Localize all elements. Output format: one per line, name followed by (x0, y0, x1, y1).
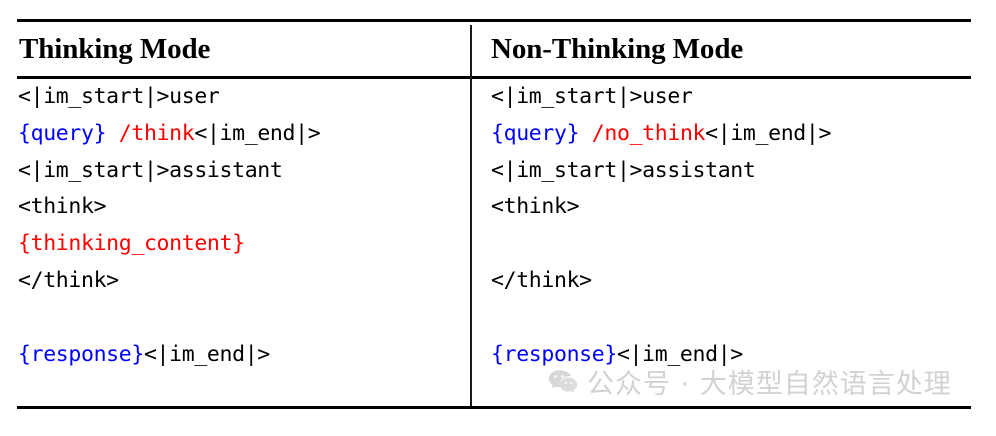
code-token: {query} (491, 121, 579, 146)
column-header-non-thinking-mode: Non-Thinking Mode (491, 22, 969, 76)
code-block-thinking-mode: <|im_start|>user{query} /think<|im_end|>… (18, 79, 470, 373)
code-token: <|im_end|> (617, 342, 743, 367)
code-token: <|im_start|>assistant (491, 158, 755, 183)
code-token: {thinking_content} (18, 231, 245, 256)
code-token: <think> (491, 194, 579, 219)
code-token: <|im_end|> (705, 121, 831, 146)
code-token: <|im_end|> (194, 121, 320, 146)
code-line: {thinking_content} (18, 226, 470, 263)
code-line: </think> (18, 263, 470, 300)
code-token: <|im_end|> (144, 342, 270, 367)
code-token: <think> (18, 194, 106, 219)
code-token: <|im_start|>user (491, 84, 693, 109)
code-line: <think> (491, 189, 971, 226)
code-token: {query} (18, 121, 106, 146)
code-line: <|im_start|>assistant (18, 153, 470, 190)
column-header-thinking-mode: Thinking Mode (19, 22, 467, 76)
code-line: <|im_start|>user (491, 79, 971, 116)
code-token: </think> (491, 268, 592, 293)
code-token (106, 121, 119, 146)
code-line: </think> (491, 263, 971, 300)
code-token: {response} (491, 342, 617, 367)
code-token: <|im_start|>assistant (18, 158, 282, 183)
code-line: <|im_start|>user (18, 79, 470, 116)
code-line (491, 226, 971, 263)
code-line (491, 300, 971, 337)
code-line: <|im_start|>assistant (491, 153, 971, 190)
code-token: /no_think (592, 121, 705, 146)
code-block-non-thinking-mode: <|im_start|>user{query} /no_think<|im_en… (491, 79, 971, 373)
template-comparison-table: Thinking Mode Non-Thinking Mode <|im_sta… (17, 19, 971, 409)
code-line: <think> (18, 189, 470, 226)
table-header-row: Thinking Mode Non-Thinking Mode (17, 22, 971, 76)
code-line: {response}<|im_end|> (491, 337, 971, 374)
code-token (579, 121, 592, 146)
code-line: {query} /think<|im_end|> (18, 116, 470, 153)
code-token: /think (119, 121, 195, 146)
code-token: {response} (18, 342, 144, 367)
code-token: <|im_start|>user (18, 84, 220, 109)
code-line: {response}<|im_end|> (18, 337, 470, 374)
code-line (18, 300, 470, 337)
code-token: </think> (18, 268, 119, 293)
table-bottom-rule (17, 406, 971, 409)
code-line: {query} /no_think<|im_end|> (491, 116, 971, 153)
table-body-row: <|im_start|>user{query} /think<|im_end|>… (17, 79, 971, 406)
